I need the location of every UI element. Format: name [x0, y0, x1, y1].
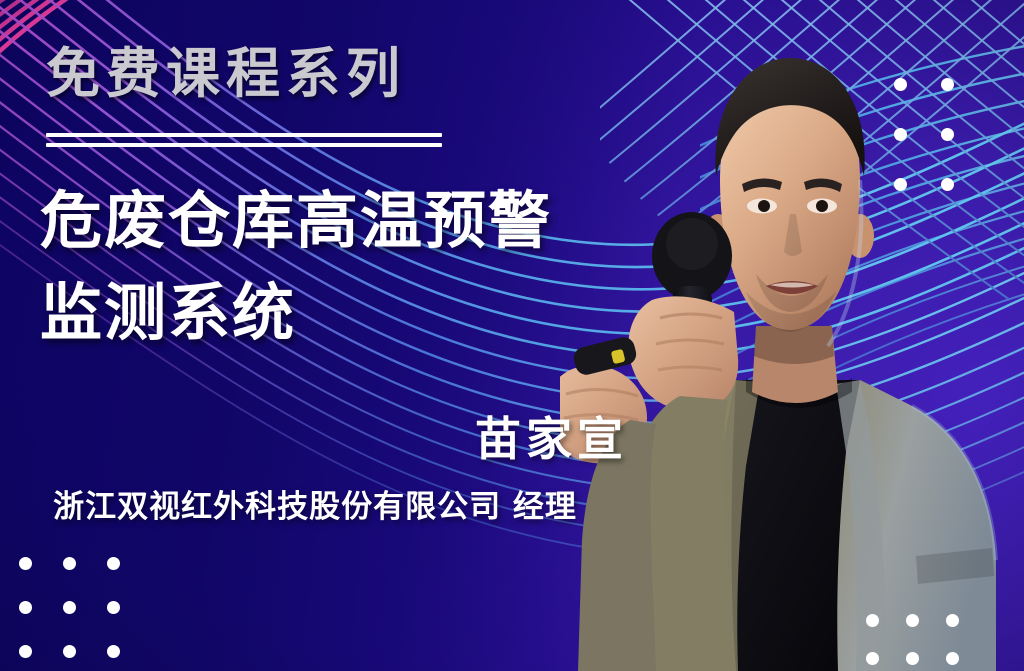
- title-line-2: 监测系统: [40, 267, 680, 359]
- dot: [19, 557, 32, 570]
- divider-rule-top: [46, 133, 442, 137]
- dot: [946, 652, 959, 665]
- title-divider: [46, 133, 442, 147]
- title-line-1: 危废仓库高温预警: [40, 175, 680, 267]
- dot: [63, 645, 76, 658]
- dot: [19, 601, 32, 614]
- dot: [866, 614, 879, 627]
- course-poster: 免费课程系列 危废仓库高温预警 监测系统 苗家宣 浙江双视红外科技股份有限公司 …: [0, 0, 1024, 671]
- dot: [63, 557, 76, 570]
- poster-content: 免费课程系列 危废仓库高温预警 监测系统 苗家宣 浙江双视红外科技股份有限公司 …: [0, 0, 1024, 671]
- dot: [941, 78, 954, 91]
- kicker-heading: 免费课程系列: [46, 46, 406, 100]
- dot-grid-bottom-right: [866, 614, 958, 664]
- dot-grid-top-right: [894, 78, 954, 191]
- dot: [941, 128, 954, 141]
- speaker-name: 苗家宣: [0, 416, 628, 462]
- dot: [63, 601, 76, 614]
- dot: [866, 652, 879, 665]
- dot: [906, 652, 919, 665]
- dot: [894, 128, 907, 141]
- dot: [906, 614, 919, 627]
- divider-rule-bottom: [46, 143, 442, 147]
- dot-grid-bottom-left: [19, 557, 120, 658]
- dot: [107, 601, 120, 614]
- dot: [941, 178, 954, 191]
- dot: [107, 557, 120, 570]
- dot: [107, 645, 120, 658]
- page-title: 危废仓库高温预警 监测系统: [40, 175, 680, 359]
- dot: [894, 178, 907, 191]
- dot: [894, 78, 907, 91]
- speaker-affiliation: 浙江双视红外科技股份有限公司 经理: [0, 492, 630, 523]
- dot: [946, 614, 959, 627]
- dot: [19, 645, 32, 658]
